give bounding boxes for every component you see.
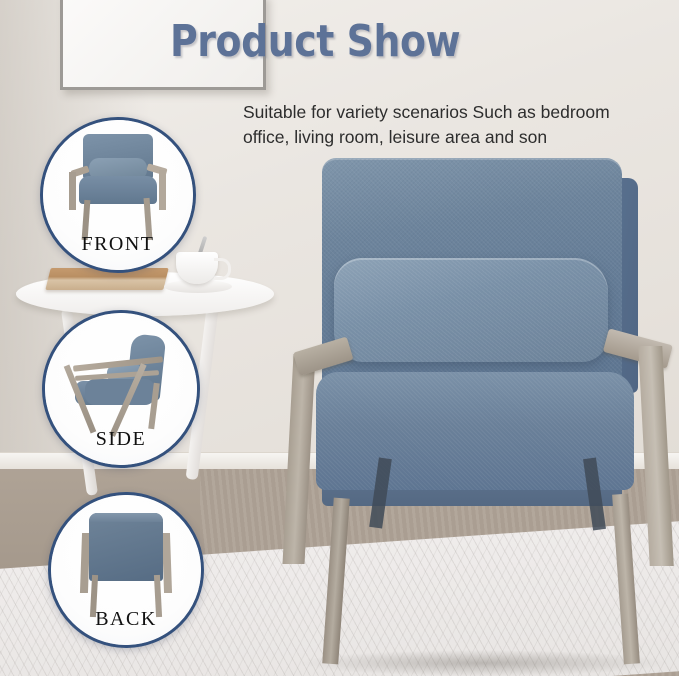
subtitle-line-1: Suitable for variety scenarios Such as b… xyxy=(243,100,663,125)
main-product-accent-chair xyxy=(288,158,679,676)
front-chair-left-post xyxy=(69,172,76,210)
callout-front[interactable]: FRONT xyxy=(40,117,196,273)
chair-front-right-leg xyxy=(612,494,640,665)
callout-side[interactable]: SIDE xyxy=(42,310,200,468)
back-chair-top-lip xyxy=(89,513,163,522)
lumbar-pillow-texture xyxy=(334,258,608,362)
front-view-chair-icon xyxy=(69,134,165,234)
back-chair-right-post xyxy=(162,533,172,593)
product-show-banner: Product Show Suitable for variety scenar… xyxy=(0,0,679,676)
subtitle-line-2: office, living room, leisure area and so… xyxy=(243,125,663,150)
back-chair-panel xyxy=(89,513,163,581)
page-title: Product Show xyxy=(170,16,460,67)
callout-back-label: BACK xyxy=(51,608,201,631)
chair-left-wood-post xyxy=(282,354,315,564)
callout-side-label: SIDE xyxy=(45,428,197,451)
chair-right-wood-post xyxy=(638,346,674,566)
front-chair-right-post xyxy=(159,170,166,210)
chair-floor-shadow xyxy=(298,650,668,676)
side-chair-seat xyxy=(85,379,155,405)
side-view-chair-icon xyxy=(63,335,179,431)
callout-side-backdrop: SIDE xyxy=(45,313,197,465)
chair-front-left-leg xyxy=(322,498,350,665)
callout-front-label: FRONT xyxy=(43,233,193,256)
callout-back[interactable]: BACK xyxy=(48,492,204,648)
callout-back-backdrop: BACK xyxy=(51,495,201,645)
callout-front-backdrop: FRONT xyxy=(43,120,193,270)
back-view-chair-icon xyxy=(79,513,173,613)
subtitle-text: Suitable for variety scenarios Such as b… xyxy=(243,100,663,150)
